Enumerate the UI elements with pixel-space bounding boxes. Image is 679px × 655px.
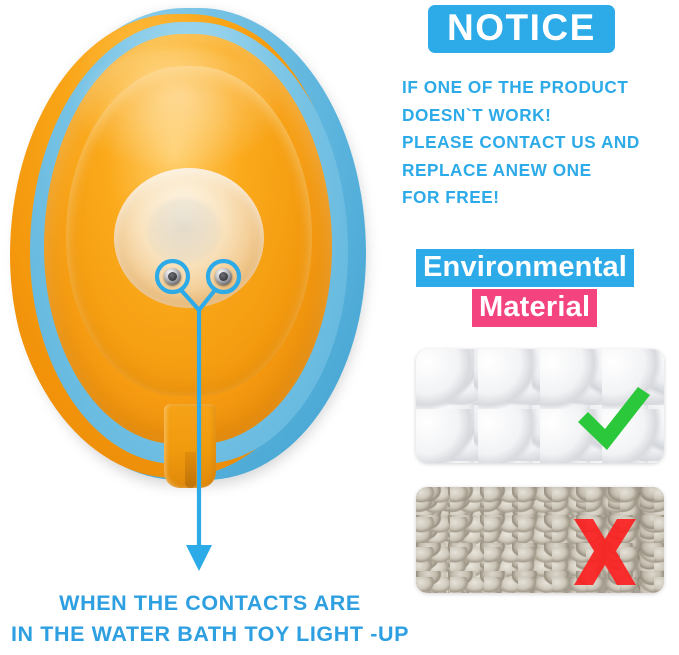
leader-line-left (181, 290, 199, 310)
grey-pellets-photo (416, 487, 664, 593)
notice-line-3: PLEASE CONTACT US AND (402, 129, 679, 157)
contact-highlight-circle-right (208, 261, 239, 292)
notice-line-1: IF ONE OF THE PRODUCT (402, 74, 679, 102)
contacts-callout (0, 0, 410, 600)
material-badge: Material (472, 289, 597, 327)
leader-line-right (199, 290, 215, 310)
environmental-badge: Environmental (416, 249, 634, 287)
bottom-caption: WHEN THE CONTACTS ARE IN THE WATER BATH … (0, 588, 420, 650)
contact-highlight-circle-left (157, 261, 188, 292)
callout-arrow-head (186, 545, 212, 571)
caption-line-2: IN THE WATER BATH TOY LIGHT -UP (0, 619, 420, 650)
notice-column: NOTICE IF ONE OF THE PRODUCT DOESN`T WOR… (398, 0, 679, 600)
product-figure (0, 0, 410, 600)
notice-body-text: IF ONE OF THE PRODUCT DOESN`T WORK! PLEA… (402, 74, 679, 212)
notice-line-5: FOR FREE! (402, 184, 679, 212)
caption-line-1: WHEN THE CONTACTS ARE (0, 588, 420, 619)
notice-badge: NOTICE (428, 5, 615, 53)
material-sample-clear-pellets (416, 349, 664, 463)
notice-line-2: DOESN`T WORK! (402, 102, 679, 130)
clear-pellets-photo (416, 349, 664, 463)
material-sample-grey-pellets (416, 487, 664, 593)
notice-line-4: REPLACE ANEW ONE (402, 157, 679, 185)
